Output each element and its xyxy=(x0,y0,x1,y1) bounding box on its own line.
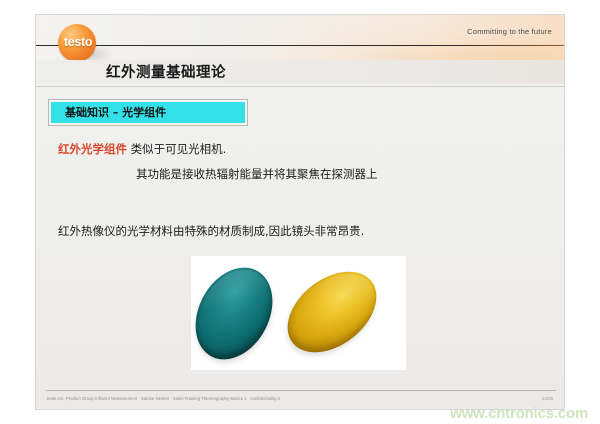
title-underline xyxy=(36,86,564,87)
page-title: 红外测量基础理论 xyxy=(106,61,226,82)
footer-divider-rule xyxy=(46,390,556,391)
header-divider-rule xyxy=(36,45,564,46)
body-line-1-accent: 红外光学组件 xyxy=(58,142,127,156)
page-number: 24/25 xyxy=(542,396,553,401)
subtitle-frame: 基础知识 – 光学组件 xyxy=(48,99,248,126)
body-line-1: 红外光学组件 类似于可见光相机. xyxy=(58,141,226,157)
body-line-1-rest: 类似于可见光相机. xyxy=(127,142,226,156)
slide-header: Committing to the future xyxy=(36,15,564,60)
slide-canvas: Committing to the future testo 红外测量基础理论 … xyxy=(35,14,565,410)
header-decoration xyxy=(237,15,564,60)
testo-logo-wordmark: testo xyxy=(56,35,100,49)
lens-illustration xyxy=(191,256,406,370)
body-line-3: 红外热像仪的光学材料由特殊的材质制成,因此镜头非常昂贵. xyxy=(58,223,364,239)
body-line-2: 其功能是接收热辐射能量并将其聚焦在探测器上 xyxy=(136,166,378,182)
site-watermark: www.cntronics.com xyxy=(450,405,588,422)
brand-tagline: Committing to the future xyxy=(467,27,552,36)
subtitle-chip: 基础知识 – 光学组件 xyxy=(51,102,245,123)
footer-text: testo AG, Product Group Infrared Measure… xyxy=(47,396,280,401)
